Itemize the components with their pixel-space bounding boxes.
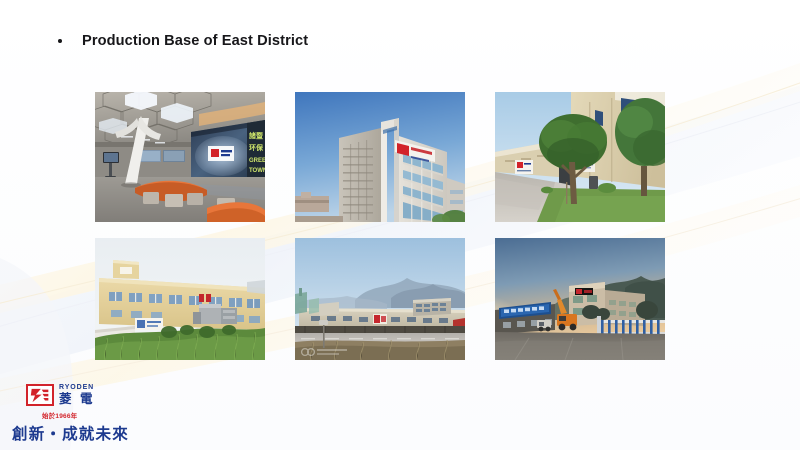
logo-since-label: 始於1966年 (42, 410, 152, 420)
page-title-label: Production Base of East District (82, 33, 308, 49)
photo-factory-mountains[interactable] (295, 238, 465, 360)
photo-image (495, 92, 665, 222)
photo-image (295, 238, 465, 360)
logo-tagline: 創新・成就未來 (12, 422, 152, 444)
photo-image (95, 238, 265, 360)
bullet-icon (58, 39, 62, 43)
lightning-mark-icon (30, 388, 50, 403)
photo-office-tower[interactable] (295, 92, 465, 222)
photo-showroom-interior[interactable]: 諸暨 环保 GREE TOWN (95, 92, 265, 222)
wall-logo-icon (575, 288, 593, 295)
brand-logo-block: RYODEN 菱 電 始於1966年 創新・成就未來 (12, 384, 152, 444)
photo-factory-long-block[interactable] (95, 238, 265, 360)
screen-text-latin-2: TOWN (249, 168, 265, 174)
wall-sign-icon (515, 160, 533, 174)
page-title: Production Base of East District (58, 33, 308, 49)
screen-text-cjk-2: 环保 (249, 143, 264, 152)
wall-signboard-icon (135, 318, 163, 330)
photo-factory-dusk[interactable] (495, 238, 665, 360)
photo-grid: 諸暨 环保 GREE TOWN (95, 92, 665, 360)
logo-wordmark: RYODEN 菱 電 (59, 384, 95, 406)
logo-cjk-name: 菱 電 (59, 393, 95, 406)
slide-canvas: Production Base of East District (0, 0, 800, 450)
screen-text-cjk-1: 諸暨 (249, 131, 263, 140)
photo-image (495, 238, 665, 360)
ryoden-mark-icon (26, 384, 54, 406)
photo-plant-trees[interactable] (495, 92, 665, 222)
photo-image (295, 92, 465, 222)
photo-image: 諸暨 环保 GREE TOWN (95, 92, 265, 222)
logo-latin-name: RYODEN (59, 384, 95, 391)
wall-logo-icon (373, 314, 387, 324)
screen-text-latin-1: GREE (249, 158, 265, 164)
logo-lockup: RYODEN 菱 電 (26, 384, 152, 406)
